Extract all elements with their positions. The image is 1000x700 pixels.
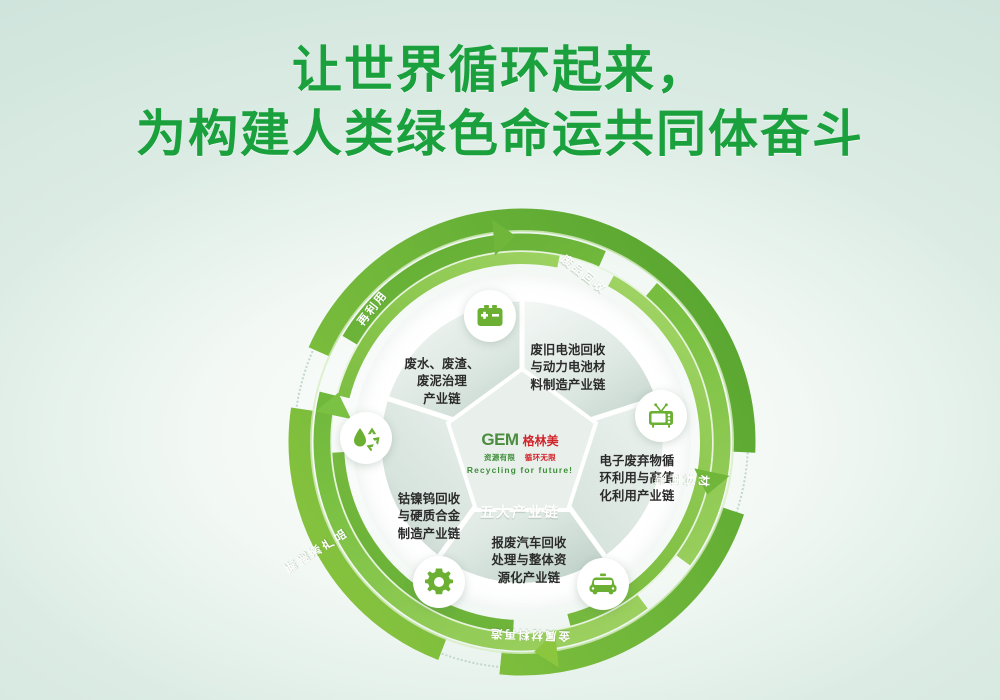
water-recycle-icon-bubble[interactable]	[340, 412, 392, 464]
car-icon-bubble[interactable]	[577, 558, 629, 610]
ring-label-metal-remake: 金属材料再造	[489, 626, 571, 645]
gear-icon-bubble[interactable]	[413, 556, 465, 608]
title-line-2: 为构建人类绿色命运共同体奋斗	[0, 102, 1000, 166]
chain-label-auto: 报废汽车回收 处理与整体资 源化产业链	[478, 535, 580, 587]
battery-icon	[476, 304, 504, 328]
gem-latin-wordmark: GEM	[481, 430, 518, 450]
title-line-1: 让世界循环起来，	[0, 38, 1000, 102]
gear-icon	[425, 568, 453, 596]
chain-label-metal: 钴镍钨回收 与硬质合金 制造产业链	[378, 491, 480, 543]
poster-canvas: 让世界循环起来， 为构建人类绿色命运共同体奋斗	[0, 0, 1000, 700]
gem-chinese-name: 格林美	[523, 432, 559, 449]
gem-logo-row: GEM 格林美	[481, 430, 558, 450]
gem-slogan: 资源有限 循环无限	[484, 452, 556, 463]
chain-label-battery: 废旧电池回收 与动力电池材 料制造产业链	[516, 342, 620, 394]
tv-icon-bubble[interactable]	[635, 390, 687, 442]
gem-tagline-en: Recycling for future!	[467, 465, 573, 475]
car-icon	[588, 573, 618, 595]
chain-label-water: 废水、废渣、 废泥治理 产业链	[390, 356, 494, 408]
gem-slogan-right: 循环无限	[525, 453, 556, 462]
battery-icon-bubble[interactable]	[464, 290, 516, 342]
water-recycle-icon	[351, 425, 381, 451]
page-title: 让世界循环起来， 为构建人类绿色命运共同体奋斗	[0, 38, 1000, 166]
gem-slogan-left: 资源有限	[484, 453, 515, 462]
ring-label-material-remake: 材料再造	[652, 470, 711, 488]
tv-icon	[647, 403, 675, 429]
